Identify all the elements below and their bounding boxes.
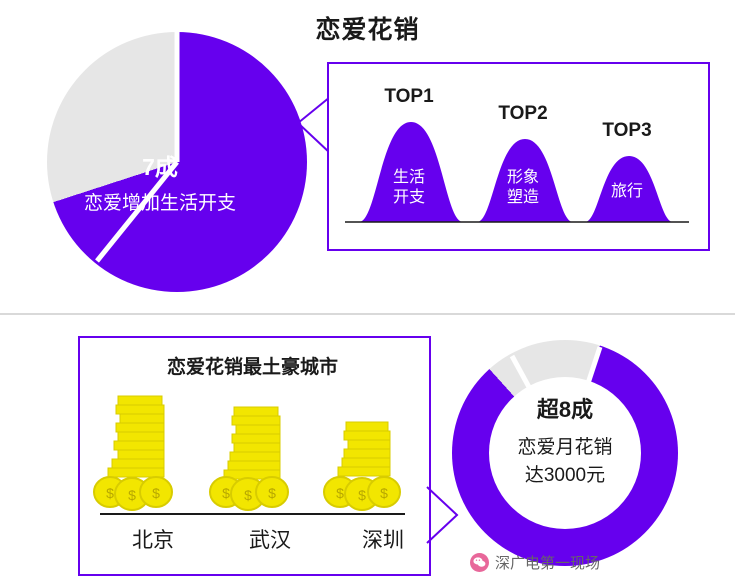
top3-item-1-line2: 开支 (366, 188, 452, 208)
coin-stack-shenzhen: $ $ $ (324, 422, 400, 510)
svg-text:$: $ (128, 487, 136, 503)
pie-caption: 恋爱增加生活开支 (30, 188, 290, 215)
svg-text:$: $ (222, 485, 230, 501)
top3-item-1: 生活 开支 (366, 168, 452, 208)
donut-chart-monthly-spend: 超8成 恋爱月花销 达3000元 (452, 340, 678, 566)
svg-text:$: $ (268, 485, 276, 501)
city-baseline (100, 513, 405, 515)
donut-value-label: 超8成 (452, 392, 678, 424)
section-divider (0, 313, 735, 315)
top3-item-2: 形象 塑造 (480, 168, 566, 208)
city-chart-title: 恋爱花销最土豪城市 (78, 352, 427, 379)
svg-text:$: $ (336, 485, 344, 501)
top3-item-2-line2: 塑造 (480, 188, 566, 208)
wechat-icon (470, 553, 489, 572)
watermark: 深广电第一现场 (470, 552, 600, 573)
svg-text:$: $ (106, 485, 114, 501)
city-label-wuhan: 武汉 (215, 524, 325, 554)
top3-item-2-line1: 形象 (480, 168, 566, 188)
top3-item-3-line1: 旅行 (584, 182, 670, 202)
top3-item-3: 旅行 (584, 182, 670, 202)
top3-rank-label-1: TOP1 (369, 86, 449, 108)
coin-stack-wuhan: $ $ $ (210, 407, 288, 510)
pie-value-label: 7成 (60, 148, 260, 182)
top3-rank-label-3: TOP3 (587, 120, 667, 142)
coin-stack-beijing: $ $ $ (94, 396, 172, 510)
top3-rank-label-2: TOP2 (483, 103, 563, 125)
coin-stacks: $ $ $ $ $ $ $ $ $ (88, 388, 418, 518)
city-label-shenzhen: 深圳 (328, 524, 438, 554)
donut-caption-line1: 恋爱月花销 (452, 432, 678, 459)
svg-text:$: $ (380, 485, 388, 501)
svg-text:$: $ (152, 485, 160, 501)
svg-text:$: $ (244, 487, 252, 503)
svg-text:$: $ (358, 487, 366, 503)
wechat-glyph (473, 557, 486, 568)
watermark-text: 深广电第一现场 (495, 552, 600, 573)
donut-caption-line2: 达3000元 (452, 460, 678, 487)
top3-item-1-line1: 生活 (366, 168, 452, 188)
city-label-beijing: 北京 (98, 524, 208, 554)
